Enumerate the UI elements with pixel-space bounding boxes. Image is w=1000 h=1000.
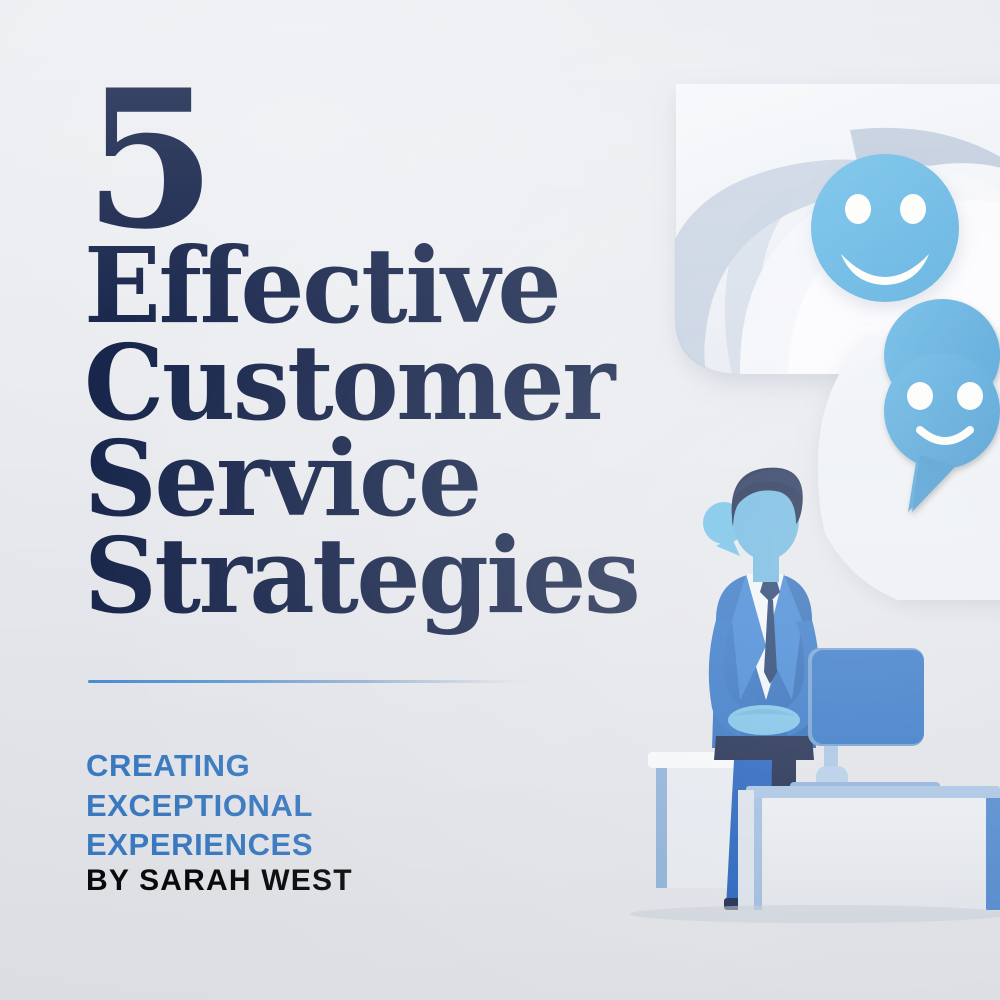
subtitle-line-2: EXCEPTIONAL xyxy=(86,786,313,826)
customer-service-illustration xyxy=(620,0,1000,1000)
subtitle: CREATING EXCEPTIONAL EXPERIENCES xyxy=(86,746,313,865)
subtitle-line-3: EXPERIENCES xyxy=(86,825,313,865)
subtitle-line-1: CREATING xyxy=(86,746,313,786)
monitor xyxy=(790,648,940,798)
title-divider xyxy=(88,680,540,683)
book-cover: 5 Effective Customer Service Strategies … xyxy=(0,0,1000,1000)
author-byline: BY SARAH WEST xyxy=(86,864,353,898)
title-line-4: Strategies xyxy=(84,528,627,625)
desk xyxy=(648,752,739,888)
desk xyxy=(738,786,1000,910)
page-title: 5 Effective Customer Service Strategies xyxy=(84,84,644,625)
smiley-face-large xyxy=(811,154,959,302)
title-number: 5 xyxy=(84,84,644,236)
